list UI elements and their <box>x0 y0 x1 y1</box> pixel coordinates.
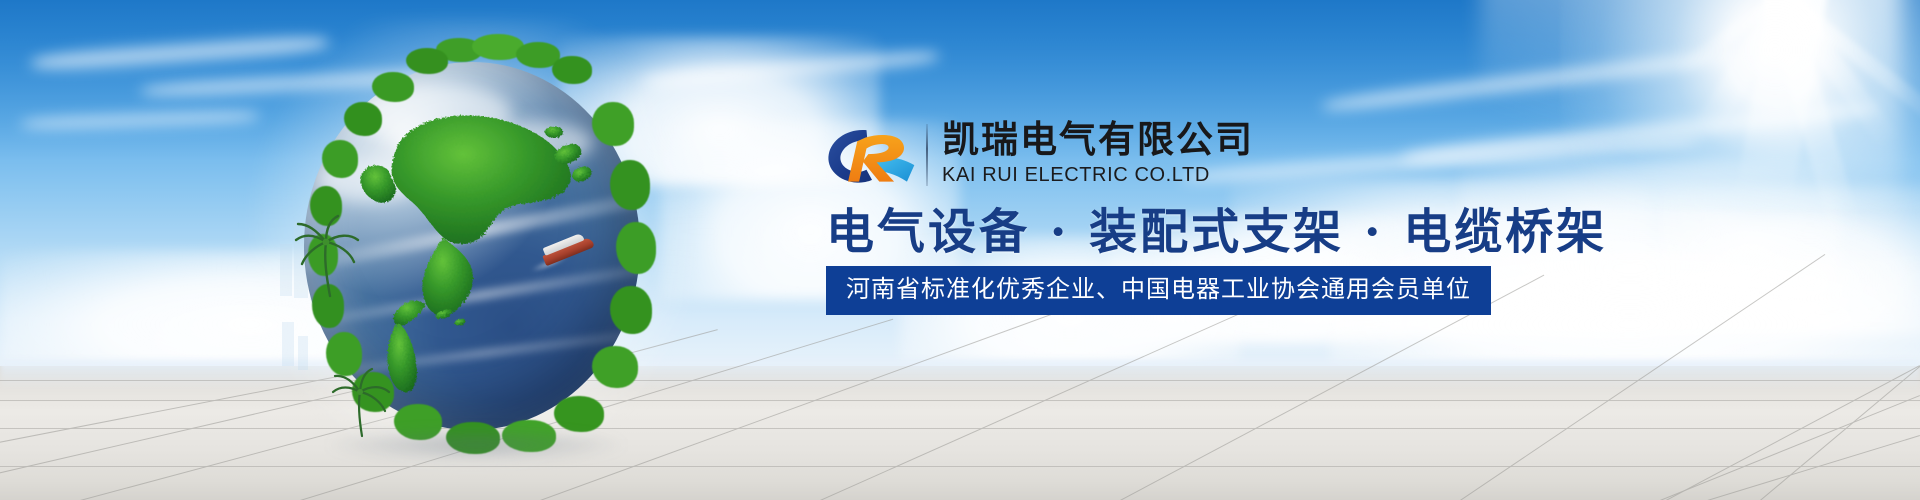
company-name-en: KAI RUI ELECTRIC CO.LTD <box>942 162 1254 188</box>
logo-divider <box>926 124 928 186</box>
earth-globe <box>286 36 658 456</box>
hero-banner: 凯瑞电气有限公司 KAI RUI ELECTRIC CO.LTD 电气设备 · … <box>0 0 1920 500</box>
tree-clump <box>372 72 414 102</box>
headline-slogan: 电气设备 · 装配式支架 · 电缆桥架 <box>826 192 1607 262</box>
tree-clump <box>610 160 650 210</box>
cr-logo-icon <box>826 126 918 184</box>
palm-tree <box>292 212 364 298</box>
logo-lockup[interactable]: 凯瑞电气有限公司 KAI RUI ELECTRIC CO.LTD <box>826 118 1526 192</box>
tagline-text: 河南省标准化优秀企业、中国电器工业协会通用会员单位 <box>846 276 1471 303</box>
company-name-cn: 凯瑞电气有限公司 <box>942 118 1254 162</box>
skyline-building <box>280 244 292 296</box>
tree-clump <box>554 396 604 432</box>
tree-clump <box>344 102 382 136</box>
tree-clump <box>616 222 656 274</box>
tree-clump <box>592 346 638 388</box>
skyline-building <box>282 322 294 366</box>
tree-clump <box>592 102 634 146</box>
banner-content: 凯瑞电气有限公司 KAI RUI ELECTRIC CO.LTD 电气设备 · … <box>826 118 1526 192</box>
sun-glow <box>1560 0 1920 210</box>
tree-clump <box>406 48 448 74</box>
tagline-badge: 河南省标准化优秀企业、中国电器工业协会通用会员单位 <box>826 266 1491 315</box>
tree-clump <box>552 56 592 84</box>
logo-text-block: 凯瑞电气有限公司 KAI RUI ELECTRIC CO.LTD <box>942 118 1254 188</box>
tree-clump <box>322 140 358 178</box>
globe-ground-shadow <box>326 428 626 462</box>
tree-clump <box>610 286 652 334</box>
